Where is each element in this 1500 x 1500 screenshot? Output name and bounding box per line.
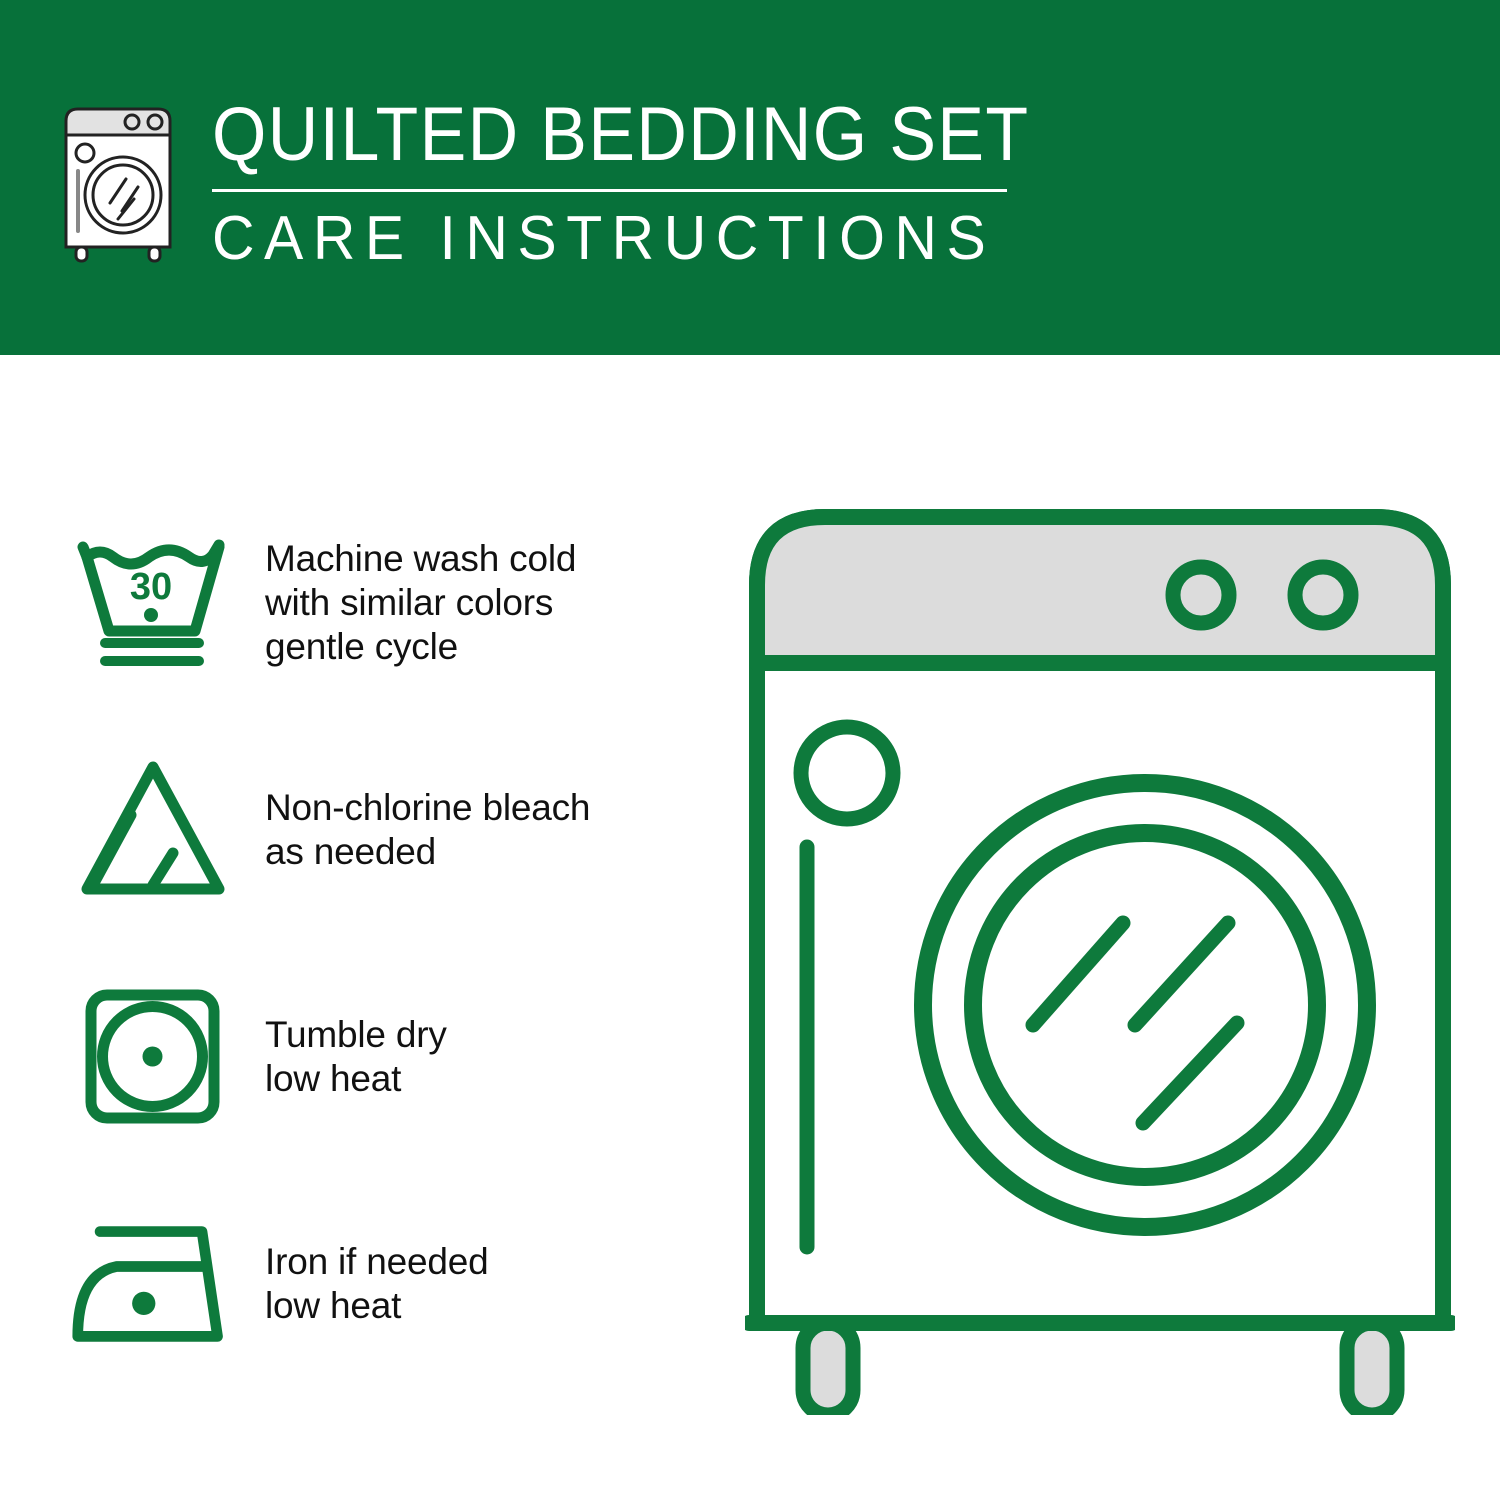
non-chlorine-bleach-triangle-icon [73,757,233,902]
knob-right[interactable] [1295,567,1351,623]
care-text-block: Machine wash cold with similar colors ge… [265,537,576,669]
washing-machine-icon [60,103,190,268]
knob-left[interactable] [1173,567,1229,623]
care-row-iron: Iron if needed low heat [70,1196,720,1371]
leg-left [803,1323,853,1415]
header-title-group: QUILTED BEDDING SET CARE INSTRUCTIONS [212,95,1101,272]
care-text-line: gentle cycle [265,625,576,669]
care-symbol-slot [70,984,235,1129]
page-title: QUILTED BEDDING SET [212,95,1029,175]
tumble-dry-low-icon [80,984,225,1129]
care-text-block: Tumble dry low heat [265,1013,447,1101]
large-washing-machine-illustration [745,495,1455,1415]
page-subtitle: CARE INSTRUCTIONS [212,206,1056,272]
care-text-line: Non-chlorine bleach [265,786,590,830]
care-text-line: Iron if needed [265,1240,488,1284]
care-symbol-slot [70,1216,235,1351]
care-text-line: low heat [265,1057,447,1101]
care-text-line: Machine wash cold [265,537,576,581]
care-text-block: Non-chlorine bleach as needed [265,786,590,874]
care-text-line: with similar colors [265,581,576,625]
care-symbol-slot [70,757,235,902]
wash-temperature-label: 30 [129,566,171,608]
care-symbol-slot: 30 [70,533,235,673]
care-instructions-page: QUILTED BEDDING SET CARE INSTRUCTIONS 30 [0,0,1500,1500]
care-row-tumble-dry: Tumble dry low heat [70,969,720,1144]
leg-right [1347,1323,1397,1415]
header-content: QUILTED BEDDING SET CARE INSTRUCTIONS [60,95,1101,272]
care-text-line: as needed [265,830,590,874]
header-band: QUILTED BEDDING SET CARE INSTRUCTIONS [0,0,1500,355]
care-row-machine-wash: 30 Machine wash cold with similar colors… [70,515,720,690]
title-divider [212,189,1007,192]
care-text-block: Iron if needed low heat [265,1240,488,1328]
care-instruction-list: 30 Machine wash cold with similar colors… [70,515,720,1423]
iron-low-heat-icon [70,1216,235,1351]
care-text-line: Tumble dry [265,1013,447,1057]
care-text-line: low heat [265,1284,488,1328]
wash-basin-30-icon: 30 [73,533,233,673]
care-row-bleach: Non-chlorine bleach as needed [70,742,720,917]
